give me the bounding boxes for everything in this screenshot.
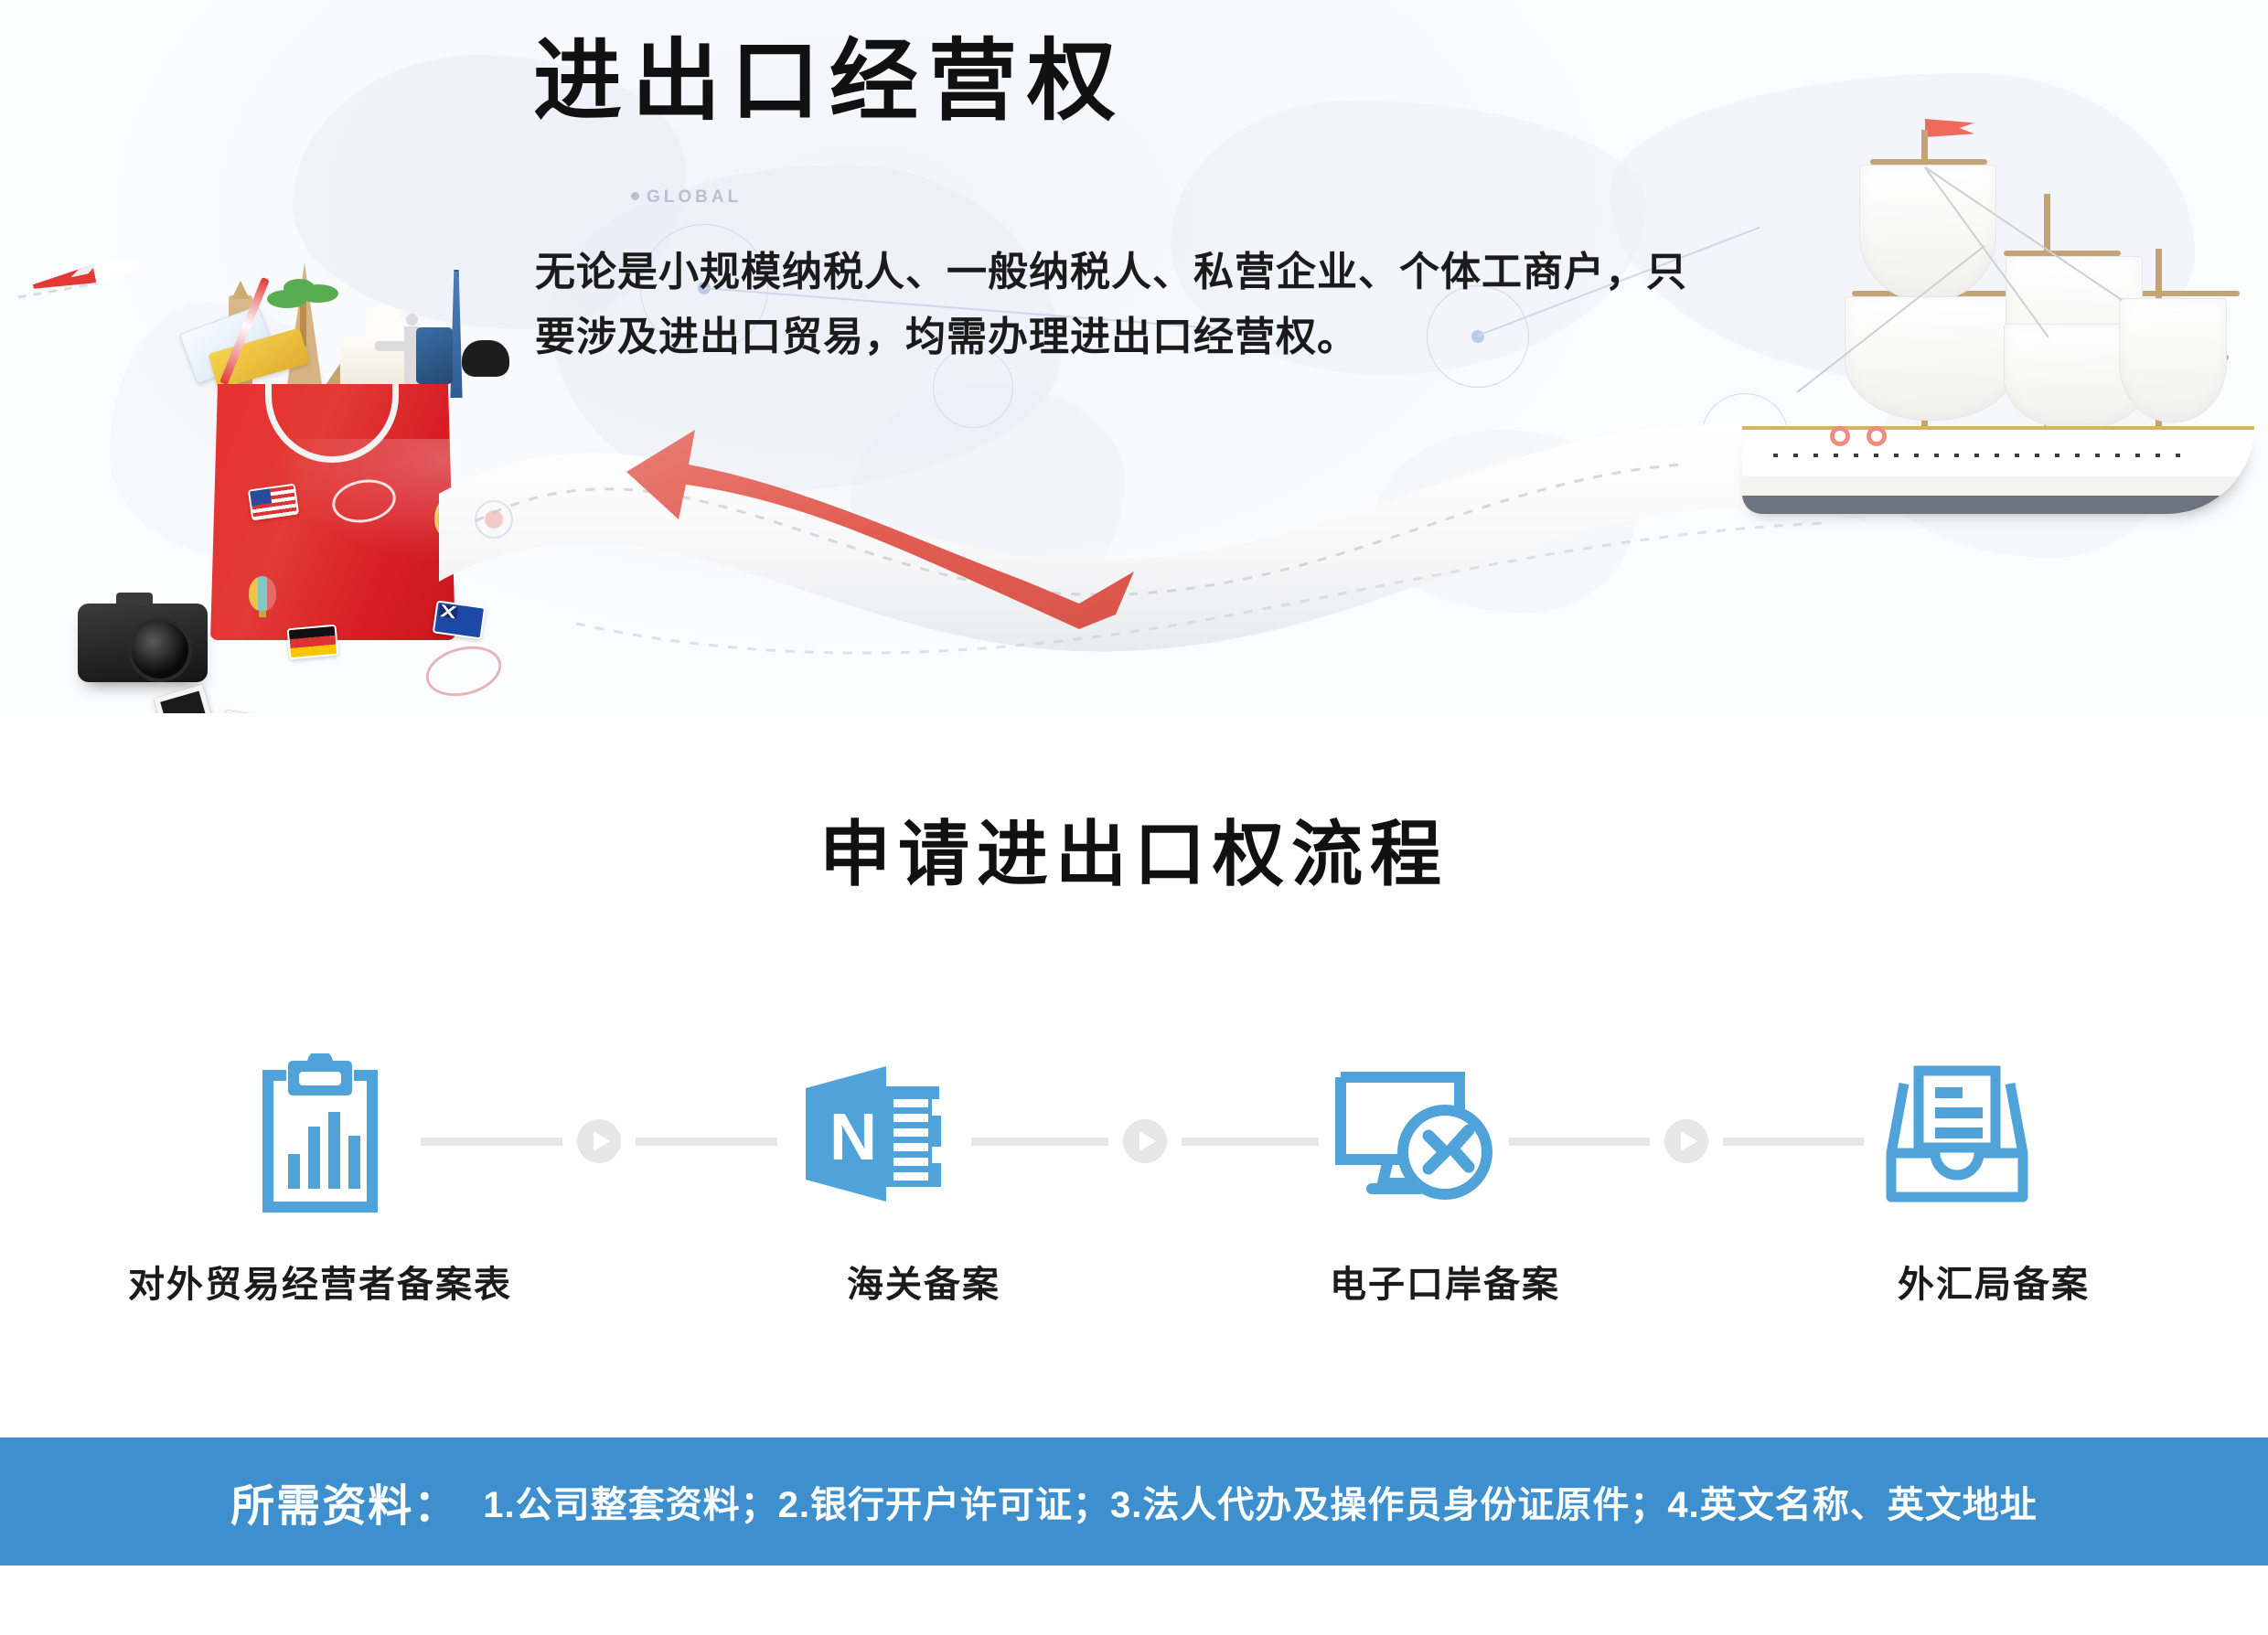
connector-line-left — [421, 1138, 562, 1146]
ship-sail-1 — [1859, 165, 1996, 302]
play-triangle-icon — [1664, 1119, 1708, 1163]
process-connector-1 — [421, 1119, 777, 1163]
process-step-4[interactable] — [1861, 1042, 2053, 1225]
map-global-label: GLOBAL — [631, 187, 742, 208]
global-dot-icon — [631, 192, 639, 200]
mouse-icon — [462, 340, 509, 377]
us-flag-sticker — [248, 484, 299, 521]
step-label-3: 电子口岸备案 — [1125, 1255, 1765, 1308]
connector-line-left — [1509, 1138, 1650, 1146]
connector-line-left — [971, 1138, 1108, 1146]
smartphone-icon — [416, 327, 453, 384]
process-step-3[interactable] — [1317, 1042, 1509, 1225]
step-label-1: 对外贸易经营者备案表 — [0, 1255, 640, 1308]
hero-description: 无论是小规模纳税人、一般纳税人、私营企业、个体工商户，只要涉及进出口贸易，均需办… — [535, 240, 1715, 370]
svg-text:N: N — [829, 1101, 877, 1174]
play-triangle-icon — [1123, 1119, 1167, 1163]
hero-title: 进出口经营权 — [533, 33, 1126, 131]
document-inbox-icon — [1884, 1058, 2030, 1210]
ship-pennant-flag — [1925, 119, 1974, 137]
connector-line-right — [1723, 1138, 1864, 1146]
required-materials-bar: 所需资料： 1.公司整套资料；2.银行开户许可证；3.法人代办及操作员身份证原件… — [0, 1437, 2268, 1566]
page-bottom-spacer — [0, 1566, 2268, 1635]
hot-air-balloon-icon — [249, 576, 276, 611]
page-root: GLOBAL — [0, 0, 2268, 1635]
process-connector-3 — [1509, 1119, 1864, 1163]
ribbon-node-left — [485, 510, 503, 529]
connector-line-right — [1182, 1138, 1319, 1146]
required-materials-text: 1.公司整套资料；2.银行开户许可证；3.法人代办及操作员身份证原件；4.英文名… — [483, 1475, 2037, 1528]
process-step-icons: N — [0, 1042, 2268, 1234]
process-section-title: 申请进出口权流程 — [0, 797, 2268, 900]
play-triangle-icon — [577, 1119, 621, 1163]
clipboard-chart-icon — [251, 1053, 389, 1214]
connector-line-right — [636, 1138, 777, 1146]
monitor-remote-icon — [1332, 1061, 1494, 1207]
ribbon-wave — [439, 384, 1866, 668]
ship-sail-5 — [2119, 298, 2227, 422]
life-ring-2 — [1867, 426, 1887, 446]
hero-banner: GLOBAL — [0, 0, 2268, 713]
process-step-1[interactable] — [224, 1042, 416, 1225]
required-materials-label: 所需资料： — [230, 1469, 459, 1533]
sailing-ship-illustration — [1742, 55, 2268, 530]
germany-flag-sticker — [287, 625, 339, 660]
onenote-document-icon: N — [802, 1059, 954, 1209]
process-steps: N — [0, 1042, 2268, 1372]
camera-icon — [78, 604, 208, 682]
process-connector-2 — [971, 1119, 1319, 1163]
ship-hull — [1742, 426, 2254, 514]
step-label-4: 外汇局备案 — [1674, 1255, 2268, 1308]
process-step-2[interactable]: N — [782, 1042, 974, 1225]
process-step-labels: 对外贸易经营者备案表 海关备案 电子口岸备案 外汇局备案 — [0, 1255, 2268, 1319]
life-ring-1 — [1830, 426, 1850, 446]
ship-sail-2 — [1845, 296, 2018, 421]
